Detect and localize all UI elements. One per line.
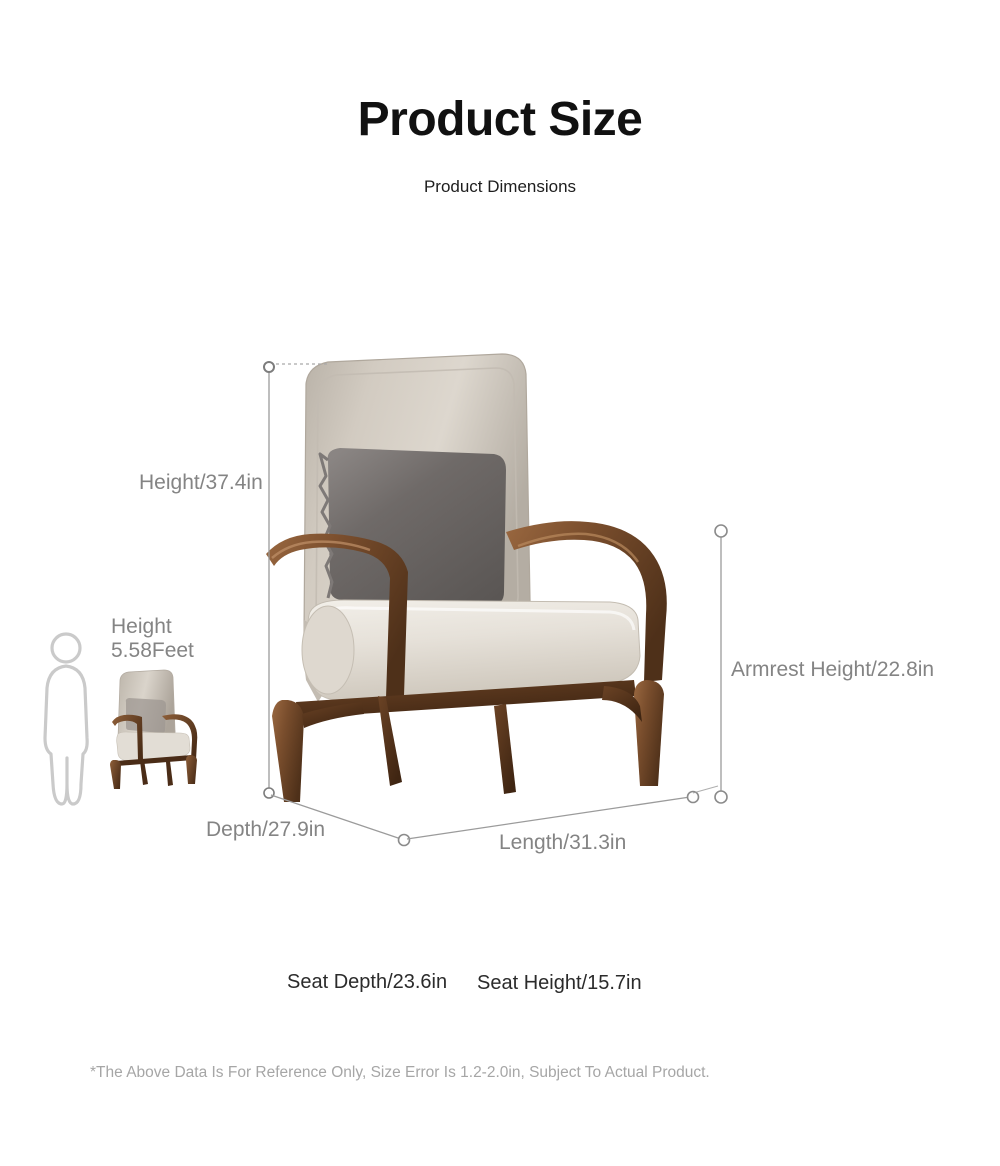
armchair-thumb-svg [110,668,204,792]
leg-front-left [272,700,304,802]
product-size-page: Product Size Product Dimensions [0,0,1000,1166]
leg-rear-center [494,704,516,794]
throw-pillow [328,448,506,606]
armrest-marker-top [715,525,727,537]
page-title: Product Size [0,92,1000,147]
page-subtitle: Product Dimensions [0,176,1000,198]
depth-marker-end [399,835,410,846]
person-silhouette-svg [40,626,92,808]
label-seat-height: Seat Height/15.7in [477,971,642,995]
armchair-svg [266,350,706,820]
label-armrest-height: Armrest Height/22.8in [731,658,934,682]
label-length: Length/31.3in [499,831,626,855]
armchair-illustration [266,350,706,820]
thumb-leg-front-left [110,760,121,789]
label-height: Height/37.4in [139,471,263,495]
person-head [52,634,80,662]
disclaimer-footnote: *The Above Data Is For Reference Only, S… [90,1064,910,1082]
label-person-height: Height5.58Feet [111,615,261,662]
label-seat-depth: Seat Depth/23.6in [287,970,447,994]
person-body [45,666,87,804]
thumb-leg-rear-center [166,761,173,786]
seat-bolster [302,606,354,694]
armchair-thumbnail-illustration [110,668,204,792]
label-depth: Depth/27.9in [206,818,325,842]
thumb-leg-front-right [186,755,197,784]
leg-front-right [634,680,664,786]
person-silhouette-icon [40,626,92,808]
thumb-leg-rear-left [140,760,148,785]
armrest-marker-bottom [715,791,727,803]
